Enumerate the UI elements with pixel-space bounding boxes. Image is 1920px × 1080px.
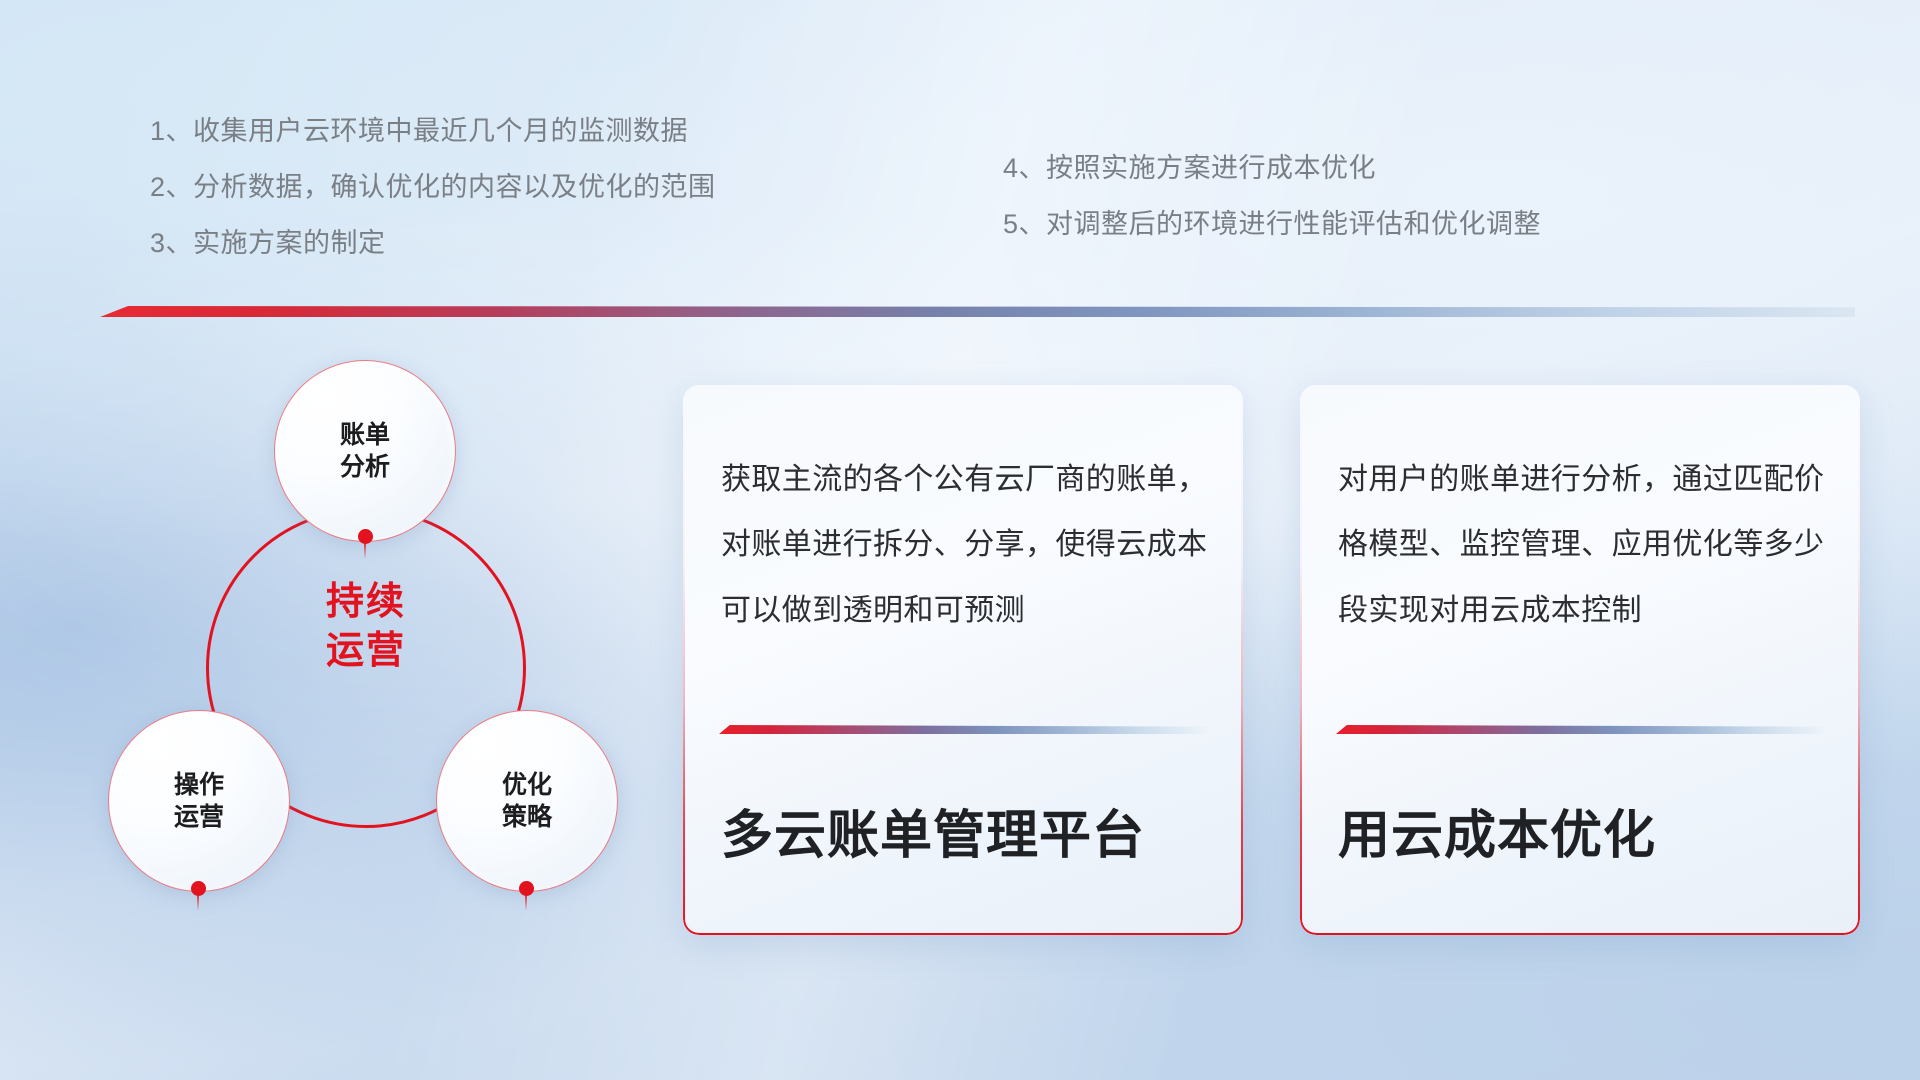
cycle-node-dot-left bbox=[191, 881, 206, 896]
feature-card-description: 获取主流的各个公有云厂商的账单，对账单进行拆分、分享，使得云成本可以做到透明和可… bbox=[721, 447, 1209, 643]
feature-card-title: 用云成本优化 bbox=[1338, 805, 1830, 867]
step-item-4: 4、按照实施方案进行成本优化 bbox=[1003, 155, 1541, 182]
section-divider bbox=[100, 306, 1855, 317]
step-item-5: 5、对调整后的环境进行性能评估和优化调整 bbox=[1003, 211, 1541, 238]
cycle-node-stem-right bbox=[525, 895, 527, 911]
cycle-node-label-line-1: 账单 bbox=[340, 419, 390, 452]
cycle-node-operations[interactable]: 操作 运营 bbox=[108, 710, 290, 892]
cycle-center-label: 持续 运营 bbox=[206, 578, 526, 675]
cycle-node-stem-left bbox=[197, 895, 199, 911]
feature-card-divider bbox=[719, 725, 1209, 734]
feature-card-divider bbox=[1336, 725, 1826, 734]
step-item-2: 2、分析数据，确认优化的内容以及优化的范围 bbox=[150, 174, 716, 201]
feature-card-description: 对用户的账单进行分析，通过匹配价格模型、监控管理、应用优化等多少段实现对用云成本… bbox=[1338, 447, 1826, 643]
cycle-center-line-1: 持续 bbox=[206, 578, 526, 627]
cycle-node-label-line-1: 操作 bbox=[174, 769, 224, 802]
cycle-node-label-line-2: 运营 bbox=[174, 801, 224, 834]
cycle-node-optimization-strategy[interactable]: 优化 策略 bbox=[436, 710, 618, 892]
cycle-node-label-line-2: 策略 bbox=[502, 801, 552, 834]
cycle-node-stem-top bbox=[364, 543, 366, 559]
feature-card-multicloud-billing[interactable]: 获取主流的各个公有云厂商的账单，对账单进行拆分、分享，使得云成本可以做到透明和可… bbox=[683, 385, 1243, 935]
cycle-node-dot-top bbox=[358, 529, 373, 544]
step-item-1: 1、收集用户云环境中最近几个月的监测数据 bbox=[150, 118, 716, 145]
cycle-node-label-line-1: 优化 bbox=[502, 769, 552, 802]
feature-card-cloud-cost-optimization[interactable]: 对用户的账单进行分析，通过匹配价格模型、监控管理、应用优化等多少段实现对用云成本… bbox=[1300, 385, 1860, 935]
cycle-node-billing-analysis[interactable]: 账单 分析 bbox=[274, 360, 456, 542]
cycle-node-label-line-2: 分析 bbox=[340, 451, 390, 484]
steps-list-right: 4、按照实施方案进行成本优化 5、对调整后的环境进行性能评估和优化调整 bbox=[1003, 155, 1541, 238]
steps-list-left: 1、收集用户云环境中最近几个月的监测数据 2、分析数据，确认优化的内容以及优化的… bbox=[150, 118, 716, 257]
cycle-diagram: 持续 运营 账单 分析 操作 运营 优化 策略 bbox=[100, 350, 660, 930]
cycle-node-dot-right bbox=[519, 881, 534, 896]
cycle-center-line-2: 运营 bbox=[206, 627, 526, 676]
feature-card-title: 多云账单管理平台 bbox=[721, 805, 1213, 867]
step-item-3: 3、实施方案的制定 bbox=[150, 230, 716, 257]
